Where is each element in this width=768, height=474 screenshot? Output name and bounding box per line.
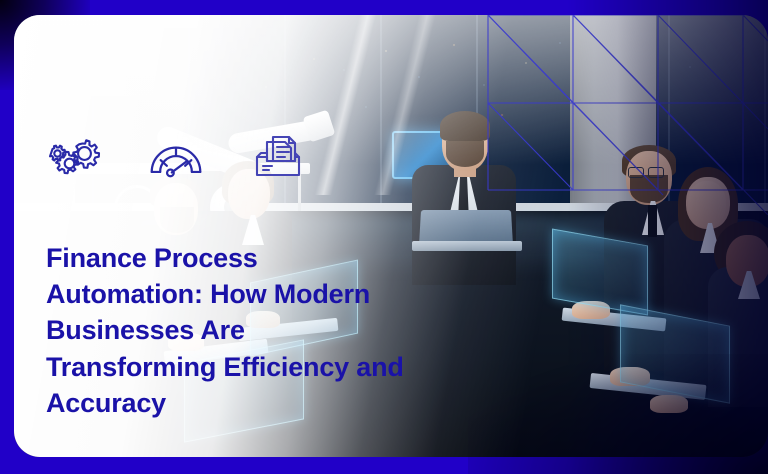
- photo-person-face: [688, 181, 726, 227]
- photo-person-beard: [630, 175, 668, 203]
- banner: Finance Process Automation: How Modern B…: [0, 0, 768, 474]
- gears-icon: [46, 133, 102, 181]
- banner-card: Finance Process Automation: How Modern B…: [14, 15, 768, 457]
- speedometer-icon: [148, 133, 204, 181]
- photo-person-hair: [440, 111, 490, 141]
- photo-person-eyeglasses: [648, 167, 664, 178]
- printer-icon: [250, 133, 306, 181]
- photo-person-eyeglasses: [628, 167, 644, 178]
- photo-laptop-base: [412, 241, 522, 251]
- photo-hand: [650, 395, 688, 413]
- page-title: Finance Process Automation: How Modern B…: [46, 240, 406, 421]
- photo-person-beard: [160, 207, 194, 233]
- feature-icons: [46, 133, 306, 181]
- photo-person-tie: [648, 205, 657, 237]
- photo-person-beard: [446, 141, 484, 167]
